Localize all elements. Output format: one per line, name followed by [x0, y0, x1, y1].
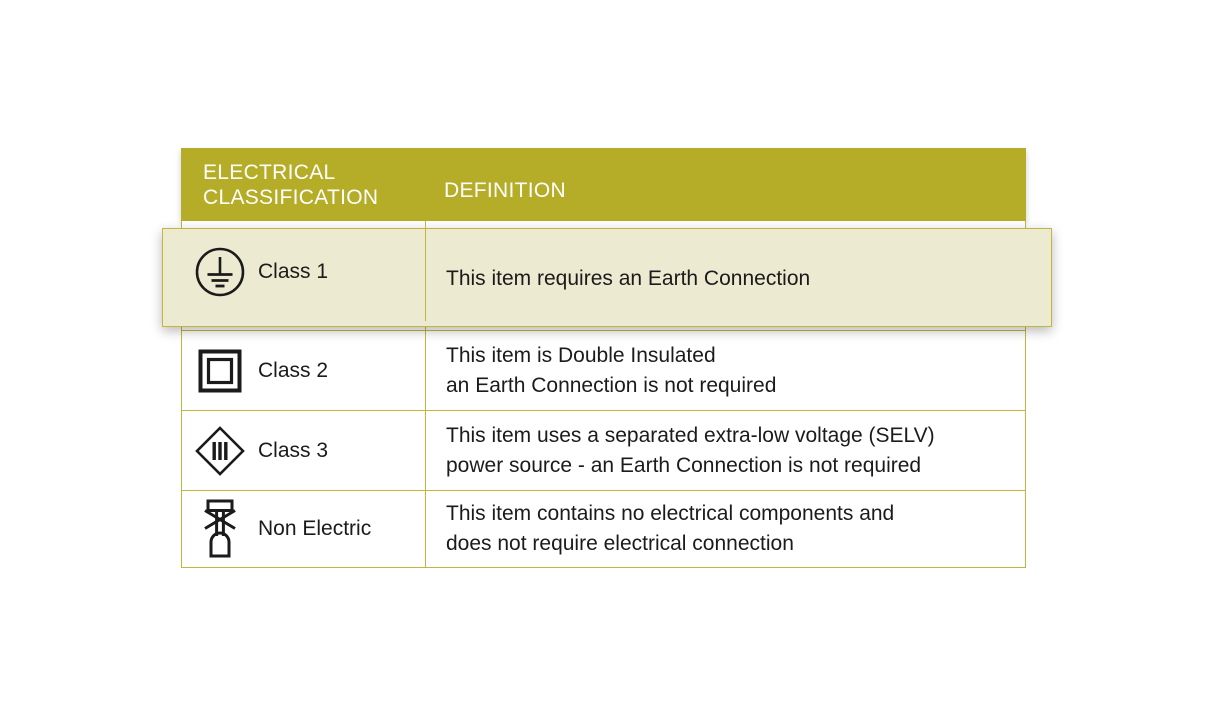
double-insulated-square-icon	[182, 349, 258, 393]
highlighted-row-class-1[interactable]: Class 1 This item requires an Earth Conn…	[162, 228, 1052, 327]
non-electric-icon	[182, 498, 258, 560]
cell-classification: Non Electric	[182, 491, 426, 567]
header-classification-line-1: ELECTRICAL	[203, 161, 336, 184]
cell-definition: This item is Double Insulated an Earth C…	[426, 331, 1025, 410]
definition-line: does not require electrical connection	[446, 529, 894, 559]
class-label: Non Electric	[258, 517, 371, 541]
definition-line: power source - an Earth Connection is no…	[446, 451, 935, 481]
cell-definition: This item contains no electrical compone…	[426, 491, 1025, 567]
definition-line: This item contains no electrical compone…	[446, 499, 894, 529]
table-row[interactable]: Class 2 This item is Double Insulated an…	[182, 331, 1025, 411]
cell-classification: Class 2	[182, 331, 426, 410]
definition-text: This item contains no electrical compone…	[446, 499, 894, 559]
header-electrical-classification: ELECTRICAL CLASSIFICATION	[203, 160, 433, 210]
table-row[interactable]: Class 3 This item uses a separated extra…	[182, 411, 1025, 491]
cell-definition: This item requires an Earth Connection	[426, 229, 1051, 328]
definition-line: This item is Double Insulated	[446, 341, 776, 371]
cell-classification: Class 3	[182, 411, 426, 490]
header-classification-line-2: CLASSIFICATION	[203, 186, 378, 209]
selv-diamond-icon	[182, 425, 258, 477]
definition-text: This item uses a separated extra-low vol…	[446, 421, 935, 481]
cell-definition: This item uses a separated extra-low vol…	[426, 411, 1025, 490]
class-label: Class 2	[258, 359, 328, 383]
definition-text: This item requires an Earth Connection	[446, 264, 810, 294]
cell-classification: Class 1	[182, 222, 426, 321]
electrical-classification-table-page: ELECTRICAL CLASSIFICATION DEFINITION Cla…	[0, 0, 1214, 722]
definition-text: This item is Double Insulated an Earth C…	[446, 341, 776, 401]
earth-ground-icon	[182, 246, 258, 298]
definition-line: This item requires an Earth Connection	[446, 264, 810, 294]
header-definition: DEFINITION	[444, 178, 566, 203]
class-label: Class 3	[258, 439, 328, 463]
table-row[interactable]: Non Electric This item contains no elect…	[182, 491, 1025, 567]
definition-line: an Earth Connection is not required	[446, 371, 776, 401]
class-label: Class 1	[258, 260, 328, 284]
table-header: ELECTRICAL CLASSIFICATION DEFINITION	[181, 148, 1026, 221]
definition-line: This item uses a separated extra-low vol…	[446, 421, 935, 451]
